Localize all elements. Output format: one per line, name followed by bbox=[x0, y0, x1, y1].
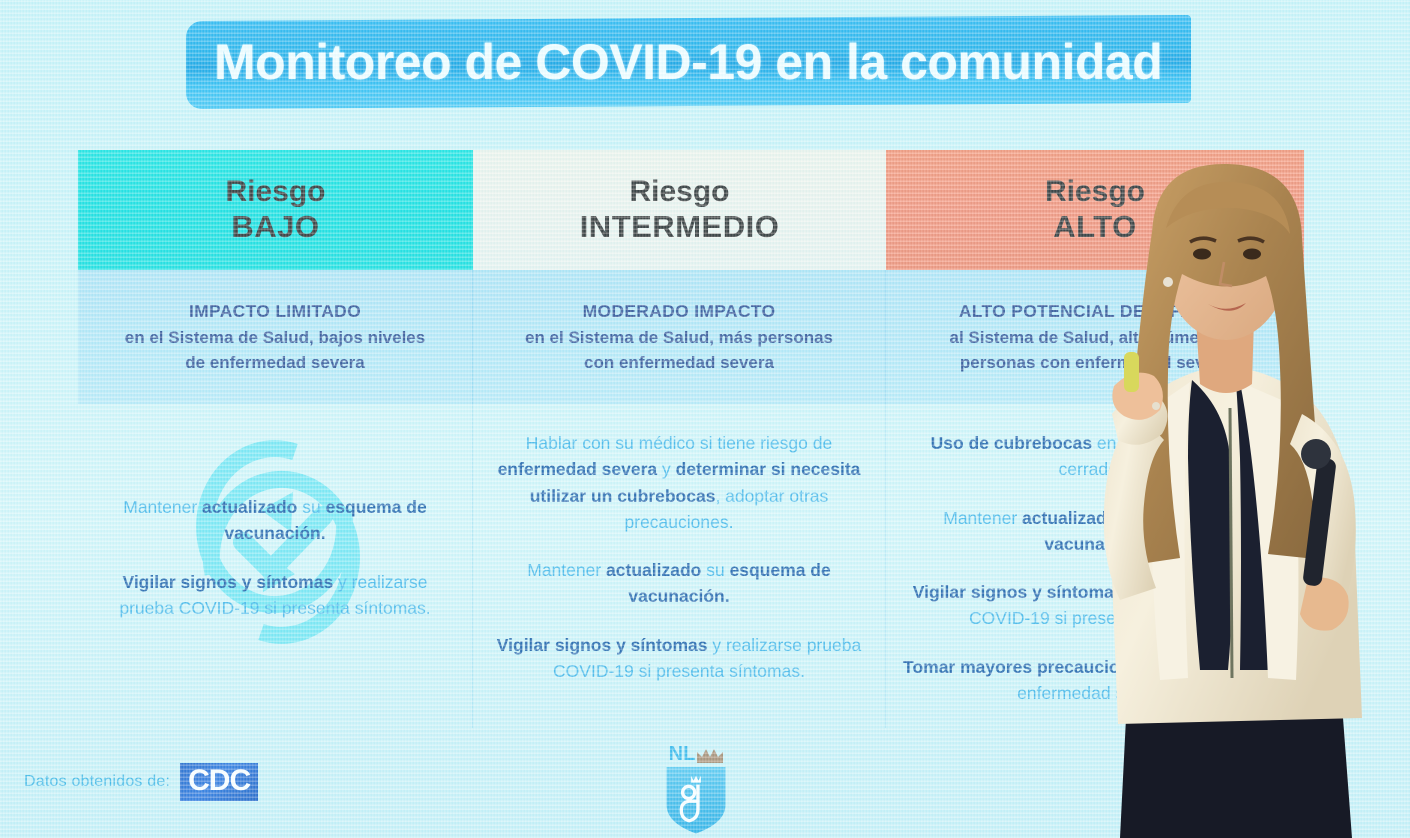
cdc-logo: CDC bbox=[180, 763, 258, 801]
recommendation-list-bajo: Mantener actualizado su esquema de vacun… bbox=[94, 494, 456, 621]
risk-word-label: Riesgo bbox=[1045, 174, 1145, 209]
risk-level-table: Riesgo BAJO Riesgo INTERMEDIO Riesgo ALT… bbox=[78, 150, 1304, 728]
recommendation-item: Hablar con su médico si tiene riesgo de … bbox=[489, 430, 869, 535]
recommendation-list-alto: Uso de cubrebocas en espacios públicos c… bbox=[902, 430, 1288, 706]
recommendation-item: Vigilar signos y síntomas y realizarse p… bbox=[94, 569, 456, 622]
recommendation-item: Mantener actualizado su esquema de vacun… bbox=[489, 557, 869, 610]
crown-icon bbox=[697, 749, 723, 764]
source-label: Datos obtenidos de: bbox=[24, 773, 170, 791]
recommendation-item: Tomar mayores precauciones si tiene ries… bbox=[902, 654, 1288, 707]
risk-word-label: Riesgo bbox=[225, 174, 325, 209]
risk-word-label: Riesgo bbox=[629, 174, 729, 209]
recommendation-item: Mantener actualizado su esquema de vacun… bbox=[94, 494, 456, 547]
impact-cell-alto: ALTO POTENCIAL DE IMPACTO al Sistema de … bbox=[886, 270, 1304, 404]
recommendation-item: Vigilar signos y síntomas y realizarse p… bbox=[489, 632, 869, 685]
impact-cell-intermedio: MODERADO IMPACTO en el Sistema de Salud,… bbox=[473, 270, 886, 404]
impact-heading: IMPACTO LIMITADO bbox=[125, 299, 425, 325]
impact-heading: MODERADO IMPACTO bbox=[525, 299, 833, 325]
recommendation-item: Vigilar signos y síntomas y realizarse p… bbox=[902, 579, 1288, 632]
risk-level-label: BAJO bbox=[231, 209, 319, 246]
nl-wordmark: NL bbox=[669, 742, 724, 764]
recommendation-item: Uso de cubrebocas en espacios públicos c… bbox=[902, 430, 1288, 483]
shield-emblem-icon bbox=[665, 766, 727, 834]
impact-line-2: en el Sistema de Salud, bajos niveles bbox=[125, 325, 425, 350]
slide-title-banner: Monitoreo de COVID-19 en la comunidad bbox=[186, 15, 1191, 109]
impact-line-3: personas con enfermedad severa bbox=[950, 350, 1241, 375]
impact-line-3: con enfermedad severa bbox=[525, 350, 833, 375]
recommendations-alto: Uso de cubrebocas en espacios públicos c… bbox=[886, 404, 1304, 728]
presentation-slide: Monitoreo de COVID-19 en la comunidad Ri… bbox=[0, 0, 1410, 838]
risk-header-bajo: Riesgo BAJO bbox=[78, 150, 473, 270]
impact-line-2: al Sistema de Salud, alto número de bbox=[950, 325, 1241, 350]
impact-heading: ALTO POTENCIAL DE IMPACTO bbox=[950, 299, 1241, 325]
recommendations-intermedio: Hablar con su médico si tiene riesgo de … bbox=[473, 404, 886, 728]
nl-letters: NL bbox=[669, 744, 696, 764]
risk-header-intermedio: Riesgo INTERMEDIO bbox=[473, 150, 886, 270]
recommendation-item: Mantener actualizado su esquema de vacun… bbox=[902, 505, 1288, 558]
table-header-row: Riesgo BAJO Riesgo INTERMEDIO Riesgo ALT… bbox=[78, 150, 1304, 270]
risk-header-alto: Riesgo ALTO bbox=[886, 150, 1304, 270]
nuevo-leon-logo: NL bbox=[662, 742, 730, 834]
table-impact-row: IMPACTO LIMITADO en el Sistema de Salud,… bbox=[78, 270, 1304, 404]
impact-line-2: en el Sistema de Salud, más personas bbox=[525, 325, 833, 350]
table-recommendations-row: Mantener actualizado su esquema de vacun… bbox=[78, 404, 1304, 728]
impact-cell-bajo: IMPACTO LIMITADO en el Sistema de Salud,… bbox=[78, 270, 473, 404]
risk-level-label: INTERMEDIO bbox=[580, 209, 780, 246]
data-source-credit: Datos obtenidos de: CDC bbox=[24, 763, 258, 801]
risk-level-label: ALTO bbox=[1053, 209, 1137, 246]
page-title: Monitoreo de COVID-19 en la comunidad bbox=[214, 33, 1162, 91]
recommendations-bajo: Mantener actualizado su esquema de vacun… bbox=[78, 404, 473, 728]
impact-line-3: de enfermedad severa bbox=[125, 350, 425, 375]
recommendation-list-intermedio: Hablar con su médico si tiene riesgo de … bbox=[489, 430, 869, 684]
